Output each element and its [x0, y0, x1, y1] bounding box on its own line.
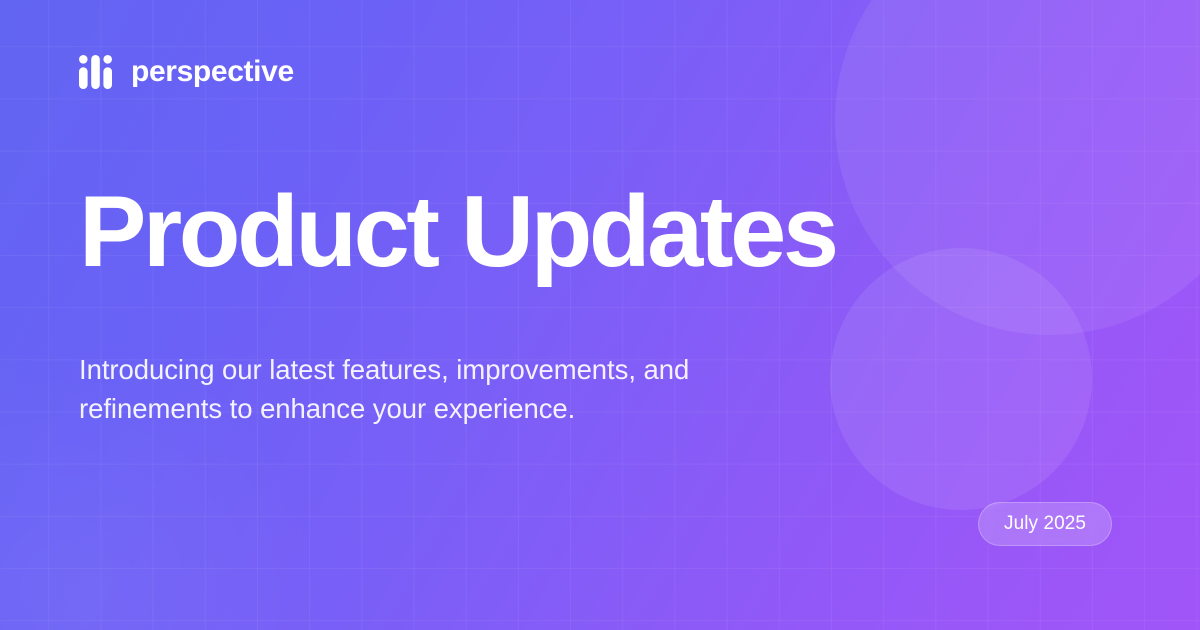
- subtitle-line-1: Introducing our latest features, improve…: [79, 350, 779, 389]
- page-title: Product Updates: [79, 182, 836, 283]
- date-badge[interactable]: July 2025: [978, 502, 1112, 546]
- banner-canvas: perspective Product Updates Introducing …: [0, 0, 1200, 630]
- perspective-bars-logo-icon: [79, 55, 112, 89]
- brand-wordmark: perspective: [131, 57, 294, 87]
- background-circle-small: [830, 248, 1092, 510]
- background-circle-large: [835, 0, 1200, 335]
- brand-logo[interactable]: perspective: [79, 55, 294, 89]
- subtitle-line-2: refinements to enhance your experience.: [79, 389, 779, 428]
- page-subtitle: Introducing our latest features, improve…: [79, 350, 779, 428]
